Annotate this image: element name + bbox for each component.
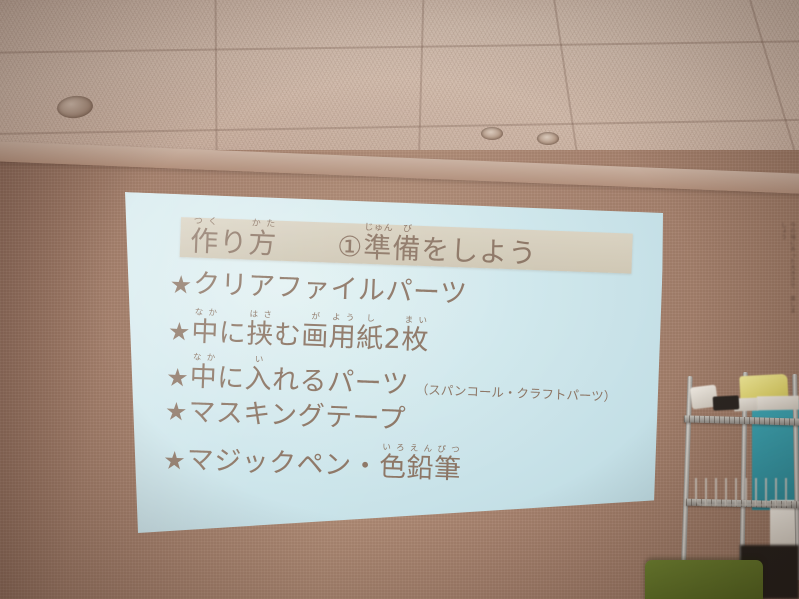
list-item-label: マジックペン・色鉛筆いろえんぴつ [186, 436, 462, 485]
ceiling-downlight-icon [537, 132, 559, 145]
ruby-tsuku: 作つく [190, 224, 220, 258]
list-item-note: （スパンコール・クラフトパーツ） [409, 378, 617, 405]
ceiling-downlight-icon [481, 127, 503, 140]
dish-rack [695, 478, 795, 506]
slide-title-right: ①準じゅん備びをしよう [337, 222, 538, 268]
white-box [757, 396, 799, 411]
slide-bullet-list: ★ クリアファイルパーツ ★ 中なかに挟はさむ画が用よう紙し2枚まい ★ 中なか… [162, 270, 639, 498]
slide-title-banner: 作つくり方かた ①準じゅん備びをしよう [180, 217, 633, 274]
dark-item [713, 395, 740, 410]
list-item-label: マスキングテープ [188, 398, 406, 433]
projection-screen-surface: 作つくり方かた ①準じゅん備びをしよう ★ クリアファイルパーツ ★ [112, 192, 664, 554]
list-item-label: 中なかに挟はさむ画が用よう紙し2枚まい [191, 307, 430, 354]
list-item-label: 中なかに入いれるパーツ [189, 353, 410, 400]
wall-vertical-text: 今の場にあった大きさで 楽しましょう [748, 222, 796, 318]
star-icon: ★ [166, 364, 189, 390]
slide-content: 作つくり方かた ①準じゅん備びをしよう ★ クリアファイルパーツ ★ [112, 192, 664, 554]
photo-scene: 今の場にあった大きさで 楽しましょう 作つくり方かた [0, 0, 799, 599]
ruby-jun: 準じゅん [363, 231, 393, 265]
list-item: ★ マジックペン・色鉛筆いろえんぴつ [163, 435, 634, 491]
star-icon: ★ [163, 447, 186, 473]
list-item: ★ クリアファイルパーツ [169, 270, 640, 315]
green-chair [645, 560, 763, 599]
star-icon: ★ [165, 399, 188, 425]
ruby-kata: 方かた [248, 227, 278, 261]
star-icon: ★ [169, 271, 192, 297]
list-item-label: クリアファイルパーツ [193, 271, 468, 309]
ruby-bi: 備び [392, 232, 422, 266]
slide-title-left: 作つくり方かた [190, 216, 278, 258]
star-icon: ★ [167, 319, 190, 345]
